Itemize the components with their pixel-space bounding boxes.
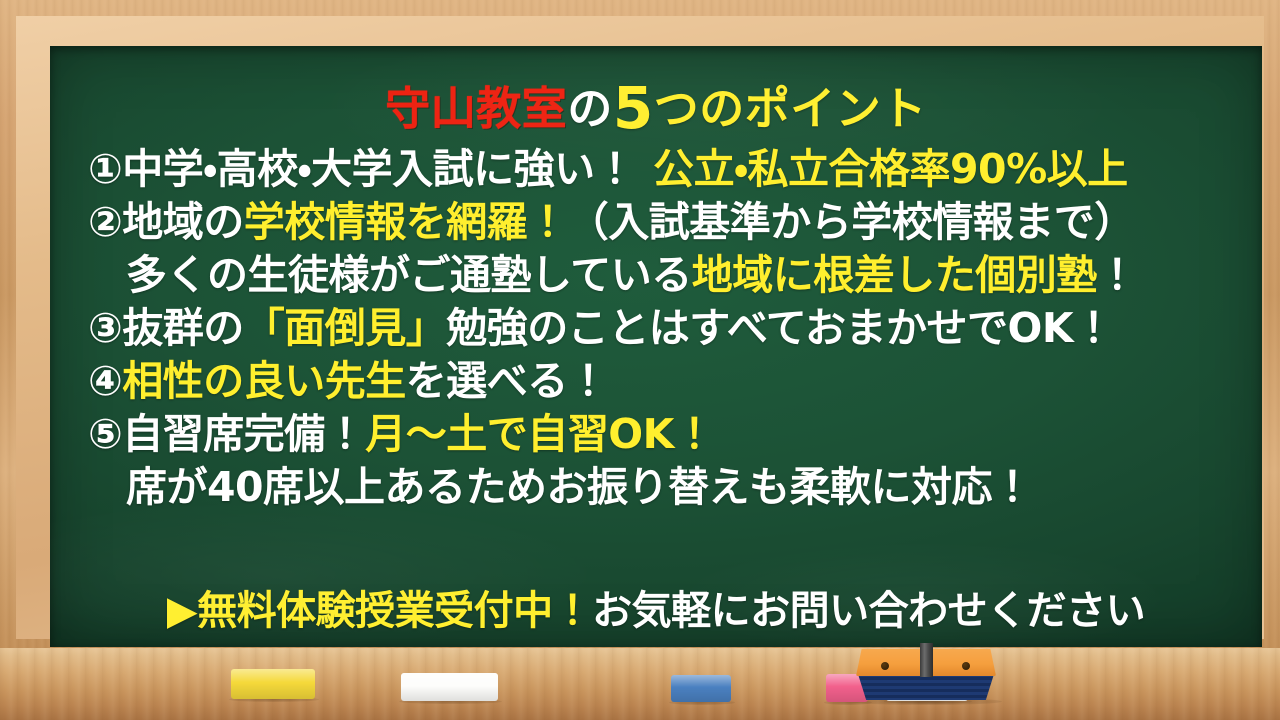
point-2-sub-seg-0: 多くの生徒様がご通塾している — [126, 251, 692, 299]
point-1-seg-2: 公立・私立合格率90%以上 — [653, 145, 1128, 193]
point-3: ③抜群の「面倒見」勉強のことはすべておまかせでOK！ — [88, 303, 1238, 353]
title-suffix: つのポイント — [654, 82, 927, 135]
point-1: ①中学・高校・大学入試に強い！公立・私立合格率90%以上 — [88, 144, 1238, 194]
point-3-seg-0: ③抜群の — [88, 304, 244, 352]
chalk-ledge — [0, 648, 1280, 720]
point-1-seg-0: ①中学・高校・大学入試に強い！ — [88, 145, 635, 193]
board-content: 守山教室の5つのポイント ①中学・高校・大学入試に強い！公立・私立合格率90%以… — [50, 46, 1262, 647]
title-number: 5 — [613, 74, 654, 142]
point-4-seg-1: 相性の良い先生 — [122, 357, 406, 405]
chalkboard-surface: 守山教室の5つのポイント ①中学・高校・大学入試に強い！公立・私立合格率90%以… — [50, 46, 1262, 647]
chalk-white-1[interactable] — [401, 673, 498, 701]
title-particle: の — [567, 82, 613, 135]
point-5: ⑤自習席完備！月～土で自習OK！ — [88, 409, 1238, 459]
page-title: 守山教室の5つのポイント — [50, 74, 1262, 144]
frame-inner-bevel: 守山教室の5つのポイント ①中学・高校・大学入試に強い！公立・私立合格率90%以… — [16, 16, 1264, 639]
point-3-seg-1: 「面倒見」 — [244, 304, 447, 352]
eraser-handle — [920, 643, 933, 677]
wooden-frame: 守山教室の5つのポイント ①中学・高校・大学入試に強い！公立・私立合格率90%以… — [0, 0, 1280, 655]
point-2-seg-0: ②地域の — [88, 198, 244, 246]
cta-highlight: ▶無料体験授業受付中！ — [167, 588, 592, 634]
point-5-sub-seg-0: 席が40席以上あるためお振り替えも柔軟に対応！ — [126, 463, 1033, 511]
chalkboard-eraser[interactable] — [852, 643, 1000, 701]
cta-rest: お気軽にお問い合わせください — [592, 588, 1145, 634]
point-2: ②地域の学校情報を網羅！（入試基準から学校情報まで） — [88, 197, 1238, 247]
point-3-seg-2: 勉強のことはすべておまかせでOK！ — [446, 304, 1113, 352]
point-4-seg-0: ④ — [88, 357, 122, 405]
chalkboard-poster: 守山教室の5つのポイント ①中学・高校・大学入試に強い！公立・私立合格率90%以… — [0, 0, 1280, 720]
point-2-sub: 多くの生徒様がご通塾している地域に根差した個別塾！ — [88, 250, 1238, 300]
points-list: ①中学・高校・大学入試に強い！公立・私立合格率90%以上 ②地域の学校情報を網羅… — [88, 144, 1238, 515]
point-2-seg-1: 学校情報を網羅！ — [244, 198, 568, 246]
point-4: ④相性の良い先生を選べる！ — [88, 356, 1238, 406]
point-2-sub-seg-2: ！ — [1097, 251, 1138, 299]
title-school-name: 守山教室 — [385, 82, 567, 135]
point-2-seg-2: （入試基準から学校情報まで） — [568, 198, 1135, 246]
chalk-yellow[interactable] — [231, 669, 315, 699]
eraser-screw-right-icon — [962, 662, 970, 670]
cta-line: ▶無料体験授業受付中！お気軽にお問い合わせください — [50, 578, 1262, 636]
point-2-sub-seg-1: 地域に根差した個別塾 — [692, 251, 1097, 299]
point-5-seg-1: 月～土で自習OK！ — [365, 410, 714, 458]
eraser-screw-left-icon — [881, 662, 889, 670]
eraser-felt — [858, 674, 994, 700]
chalk-blue[interactable] — [671, 675, 731, 702]
point-5-seg-0: ⑤自習席完備！ — [88, 410, 365, 458]
point-4-seg-2: を選べる！ — [406, 357, 609, 405]
point-5-sub: 席が40席以上あるためお振り替えも柔軟に対応！ — [88, 462, 1238, 512]
